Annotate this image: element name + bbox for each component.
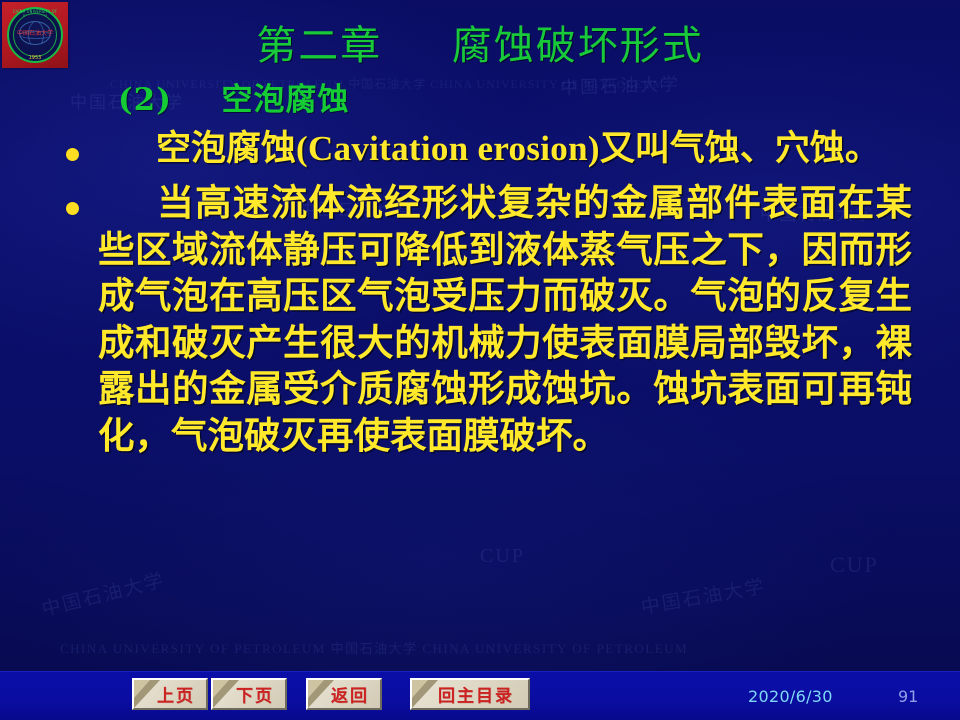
subheading-text: 空泡腐蚀 <box>222 82 350 118</box>
bullet-dot-icon <box>66 202 79 215</box>
next-page-label: 下页 <box>213 682 285 707</box>
main-menu-button[interactable]: 回主目录 <box>410 678 530 710</box>
main-menu-label: 回主目录 <box>412 682 528 707</box>
bullet-lead-text: 空泡腐蚀 <box>156 128 296 169</box>
background-watermark: 中国石油大学 <box>639 571 768 619</box>
prev-page-label: 上页 <box>134 682 206 707</box>
return-label: 返回 <box>308 682 380 707</box>
page-number: 91 <box>898 687 918 706</box>
background-watermark-line: CHINA UNIVERSITY OF PETROLEUM 中国石油大学 CHI… <box>60 638 910 657</box>
bullet-item: 当高速流体流经形状复杂的金属部件表面在某些区域流体静压可降低到液体蒸气压之下，因… <box>0 180 960 459</box>
subheading-number: (2) <box>118 82 172 118</box>
prev-page-button[interactable]: 上页 <box>132 678 208 710</box>
bullet-dot-icon <box>66 148 79 161</box>
slide-body: 空泡腐蚀(Cavitation erosion)又叫气蚀、穴蚀。 当高速流体流经… <box>0 126 960 467</box>
background-watermark: 中国石油大学 <box>39 565 168 622</box>
background-watermark: CUP <box>830 552 879 578</box>
presentation-slide: 中国石油大学 中国石油大学 中国石油大学 中国石油大学 中国石油大学 中国石油大… <box>0 0 960 720</box>
bullet-body-text: 当高速流体流经形状复杂的金属部件表面在某些区域流体静压可降低到液体蒸气压之下，因… <box>98 181 912 457</box>
background-watermark: CUP <box>480 545 525 568</box>
next-page-button[interactable]: 下页 <box>211 678 287 710</box>
bullet-paragraph: 当高速流体流经形状复杂的金属部件表面在某些区域流体静压可降低到液体蒸气压之下，因… <box>0 180 960 459</box>
background-watermark: 中国石油大学 <box>560 70 681 100</box>
footer-date: 2020/6/30 <box>748 687 833 706</box>
chapter-title-text: 腐蚀破坏形式 <box>452 23 704 69</box>
return-button[interactable]: 返回 <box>306 678 382 710</box>
bullet-item: 空泡腐蚀(Cavitation erosion)又叫气蚀、穴蚀。 <box>0 126 960 172</box>
bullet-english-term: (Cavitation erosion) <box>296 129 600 168</box>
bullet-paragraph: 空泡腐蚀(Cavitation erosion)又叫气蚀、穴蚀。 <box>0 126 960 172</box>
bullet-tail-text: 又叫气蚀、穴蚀。 <box>600 128 880 169</box>
chapter-label: 第二章 <box>256 23 382 69</box>
page-title: 第二章 腐蚀破坏形式 <box>0 13 960 71</box>
section-subheading: (2) 空泡腐蚀 <box>118 74 350 119</box>
